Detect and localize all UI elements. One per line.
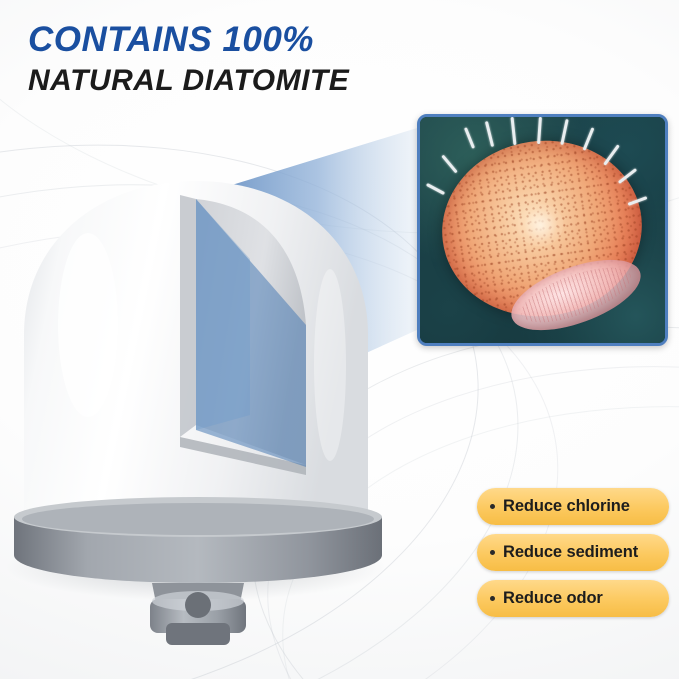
bullet-dot-icon (490, 504, 495, 509)
bullet-dot-icon (490, 550, 495, 555)
callout-reduce-odor: Reduce odor (477, 580, 669, 617)
callout-label: Reduce odor (503, 589, 603, 608)
headline: CONTAINS 100% NATURAL DIATOMITE (28, 20, 349, 99)
headline-line-1: CONTAINS 100% (28, 20, 349, 59)
callout-label: Reduce sediment (503, 543, 638, 562)
diatomite-micrograph (417, 114, 668, 346)
product-marketing-image: CONTAINS 100% NATURAL DIATOMITE (0, 0, 679, 679)
filter-cartridge (0, 175, 400, 645)
bullet-dot-icon (490, 596, 495, 601)
callout-label: Reduce chlorine (503, 497, 630, 516)
callout-reduce-sediment: Reduce sediment (477, 534, 669, 571)
headline-line-2: NATURAL DIATOMITE (28, 64, 349, 99)
callout-reduce-chlorine: Reduce chlorine (477, 488, 669, 525)
benefit-callouts: Reduce chlorine Reduce sediment Reduce o… (477, 488, 669, 626)
